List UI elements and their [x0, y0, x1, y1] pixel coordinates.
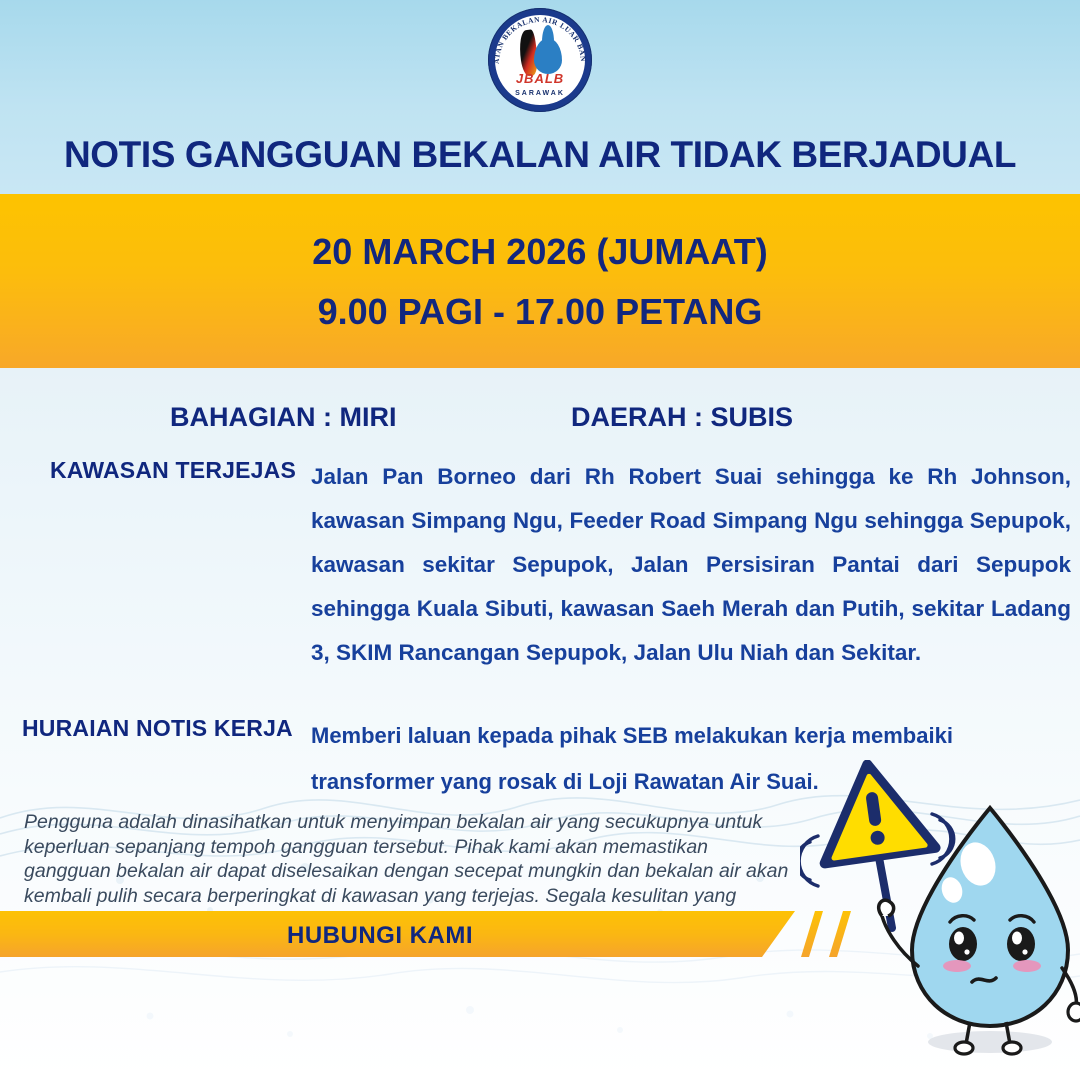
page-title: NOTIS GANGGUAN BEKALAN AIR TIDAK BERJADU… [0, 134, 1080, 176]
notice-date: 20 MARCH 2026 (JUMAAT) [0, 231, 1080, 273]
work-description-label: HURAIAN NOTIS KERJA [22, 715, 293, 742]
jbalb-logo: JABATAN BEKALAN AIR LUAR BANDAR JBALB SA… [488, 8, 592, 112]
contact-banner-label: HUBUNGI KAMI [0, 922, 760, 950]
banner-stripe-1 [801, 911, 823, 957]
notice-poster: JABATAN BEKALAN AIR LUAR BANDAR JBALB SA… [0, 0, 1080, 1080]
date-band [0, 194, 1080, 368]
contact-banner: HUBUNGI KAMI [0, 911, 1080, 957]
affected-area-label: KAWASAN TERJEJAS [50, 457, 296, 484]
logo-state: SARAWAK [488, 90, 592, 97]
banner-stripe-2 [829, 911, 851, 957]
logo-brand: JBALB [488, 71, 592, 86]
contact-details: CALL CENTRE JBALB SARAWAK 082-262211 JBA… [0, 962, 1080, 1080]
logo-droplet-icon [534, 38, 562, 74]
district-label: DAERAH : SUBIS [571, 402, 793, 433]
division-label: BAHAGIAN : MIRI [170, 402, 396, 433]
affected-area-text: Jalan Pan Borneo dari Rh Robert Suai seh… [311, 455, 1071, 675]
notice-time: 9.00 PAGI - 17.00 PETANG [0, 291, 1080, 333]
